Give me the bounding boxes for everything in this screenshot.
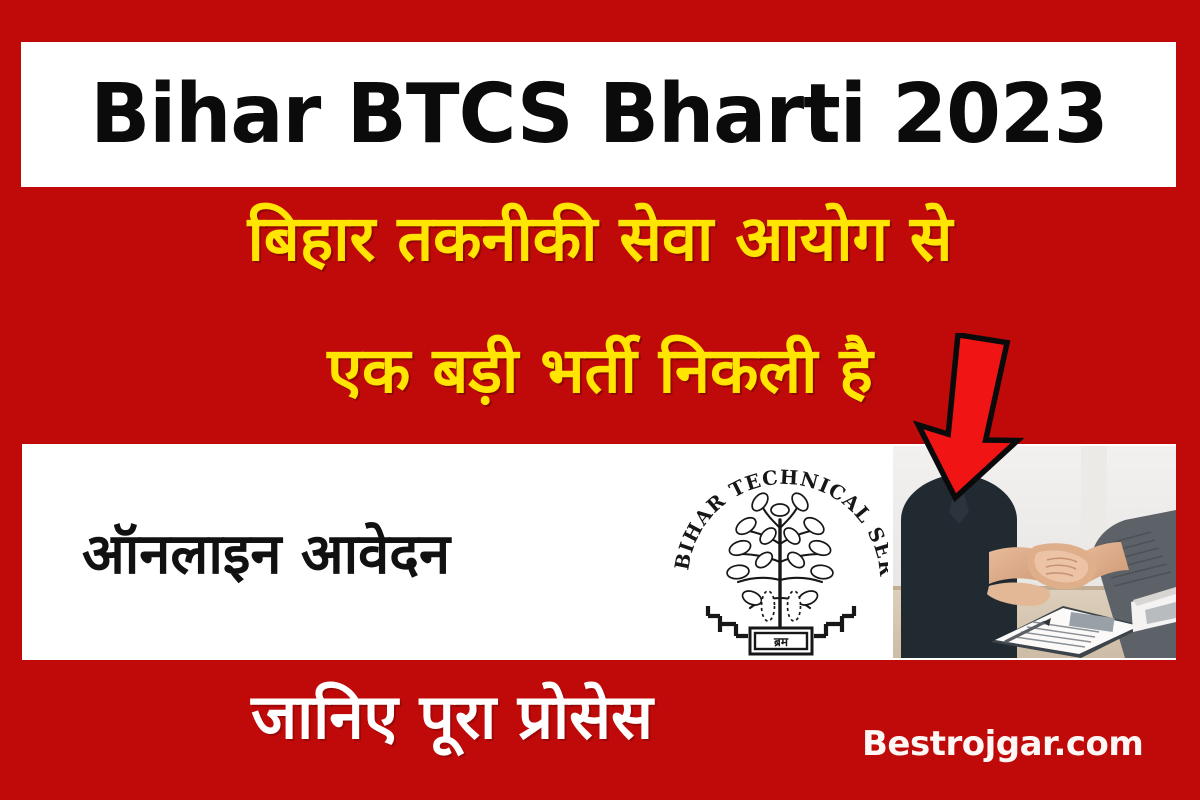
brand-watermark: Bestrojgar.com [862, 727, 1143, 761]
page-title: Bihar BTCS Bharti 2023 [90, 74, 1107, 156]
footer-hindi-text: जानिए पूरा प्रोसेस [92, 683, 812, 751]
headline-line-1: बिहार तकनीकी सेवा आयोग से [0, 204, 1200, 275]
title-box: Bihar BTCS Bharti 2023 [21, 42, 1176, 187]
online-application-label: ऑनलाइन आवेदन [82, 514, 450, 590]
logo-box-text: ब्रम [773, 635, 789, 649]
red-down-arrow-icon [912, 333, 1034, 503]
btsc-logo-icon: BIHAR TECHNICAL SERVICE COMM [672, 448, 888, 656]
poster-canvas: Bihar BTCS Bharti 2023 बिहार तकनीकी सेवा… [0, 0, 1200, 800]
